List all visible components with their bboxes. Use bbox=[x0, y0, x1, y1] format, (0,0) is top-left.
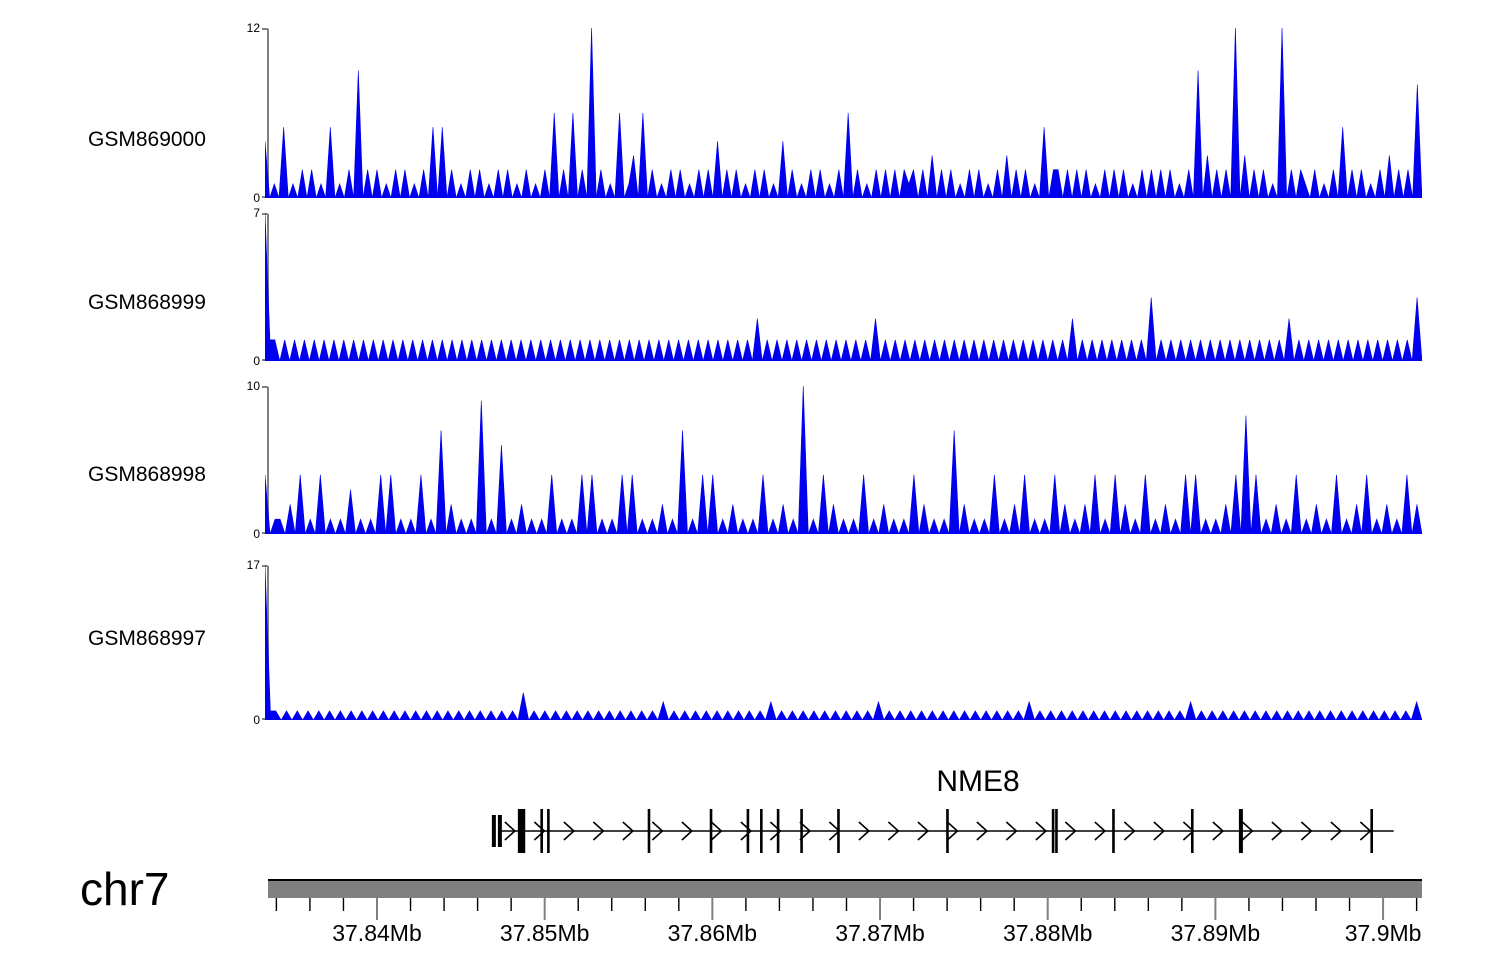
y-axis-max-label: 17 bbox=[247, 558, 260, 572]
y-axis: 17 0 bbox=[232, 565, 260, 720]
genome-browser-view: GSM869000 12 0 GSM868999 7 0 GSM868998 1… bbox=[0, 0, 1500, 980]
coverage-track: GSM868999 7 0 bbox=[0, 213, 1500, 361]
y-axis-max-label: 10 bbox=[247, 379, 260, 393]
y-axis-min-label: 0 bbox=[253, 713, 260, 727]
axis-tick-label: 37.85Mb bbox=[500, 920, 590, 947]
coverage-plot bbox=[265, 213, 1422, 361]
coverage-plot bbox=[265, 565, 1422, 720]
y-axis-max-label: 12 bbox=[247, 21, 260, 35]
axis-tick-label: 37.9Mb bbox=[1345, 920, 1422, 947]
y-axis: 7 0 bbox=[232, 213, 260, 361]
y-axis-min-label: 0 bbox=[253, 354, 260, 368]
coverage-track: GSM869000 12 0 bbox=[0, 28, 1500, 198]
y-axis: 10 0 bbox=[232, 386, 260, 534]
track-label: GSM868999 bbox=[88, 291, 206, 315]
y-axis-max-label: 7 bbox=[253, 206, 260, 220]
ideogram-bar[interactable] bbox=[268, 879, 1422, 898]
track-label: GSM868998 bbox=[88, 463, 206, 487]
coverage-track: GSM868997 17 0 bbox=[0, 565, 1500, 720]
y-axis-min-label: 0 bbox=[253, 527, 260, 541]
axis-tick-label: 37.87Mb bbox=[835, 920, 925, 947]
coverage-track: GSM868998 10 0 bbox=[0, 386, 1500, 534]
coverage-plot bbox=[265, 28, 1422, 198]
y-axis: 12 0 bbox=[232, 28, 260, 198]
gene-name-text: NME8 bbox=[936, 765, 1019, 798]
gene-model-track[interactable] bbox=[265, 800, 1422, 862]
track-label: GSM868997 bbox=[88, 627, 206, 651]
genomic-axis: 37.84Mb37.85Mb37.86Mb37.87Mb37.88Mb37.89… bbox=[265, 898, 1425, 978]
axis-tick-label: 37.84Mb bbox=[332, 920, 422, 947]
chromosome-label: chr7 bbox=[80, 862, 169, 916]
axis-tick-label: 37.88Mb bbox=[1003, 920, 1093, 947]
y-axis-min-label: 0 bbox=[253, 191, 260, 205]
coverage-plot bbox=[265, 386, 1422, 534]
track-label: GSM869000 bbox=[88, 128, 206, 152]
axis-tick-label: 37.89Mb bbox=[1171, 920, 1261, 947]
gene-label: NME8 bbox=[0, 765, 1500, 799]
axis-tick-label: 37.86Mb bbox=[668, 920, 758, 947]
